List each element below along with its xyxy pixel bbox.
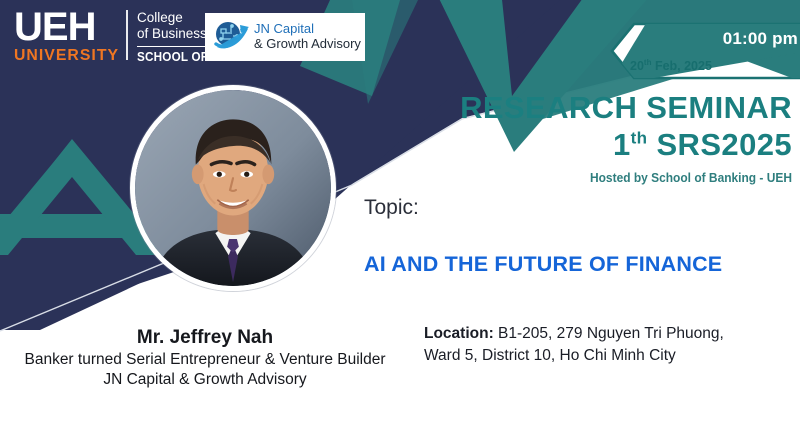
ueh-university-label: UNIVERSITY bbox=[14, 48, 119, 64]
location-line-1: B1-205, 279 Nguyen Tri Phuong, bbox=[494, 325, 724, 342]
date-day: 20 bbox=[630, 59, 644, 73]
seminar-poster: UEH UNIVERSITY College of Business SCHOO… bbox=[0, 0, 800, 433]
headline-block: RESEARCH SEMINAR 1th SRS2025 Hosted by S… bbox=[232, 92, 792, 185]
datetime-ribbon: 01:00 pm 20th Feb, 2025 bbox=[608, 20, 800, 84]
seminar-time: 01:00 pm bbox=[723, 29, 798, 49]
location-block: Location: B1-205, 279 Nguyen Tri Phuong,… bbox=[424, 323, 784, 367]
location-line-2: Ward 5, District 10, Ho Chi Minh City bbox=[424, 347, 676, 364]
topic-label: Topic: bbox=[364, 196, 419, 220]
hosted-by-label: Hosted by School of Banking - UEH bbox=[277, 170, 792, 185]
ueh-logo-mark-group: UEH UNIVERSITY bbox=[14, 8, 117, 64]
topic-title: AI AND THE FUTURE OF FINANCE bbox=[364, 252, 722, 277]
edition-number: 1 bbox=[613, 127, 631, 162]
jn-capital-line-2: & Growth Advisory bbox=[254, 37, 361, 52]
edition-name: SRS2025 bbox=[656, 127, 792, 162]
location-label-text: Location: bbox=[424, 325, 494, 342]
speaker-role: Banker turned Serial Entrepreneur & Vent… bbox=[0, 350, 410, 370]
jn-capital-circuit-arrow-icon bbox=[211, 20, 249, 54]
ueh-wordmark: UEH bbox=[14, 8, 95, 47]
ueh-logo-divider bbox=[126, 10, 128, 60]
jn-capital-line-1: JN Capital bbox=[254, 22, 361, 37]
speaker-name: Mr. Jeffrey Nah bbox=[0, 326, 410, 350]
jn-capital-logo-text: JN Capital & Growth Advisory bbox=[254, 22, 361, 51]
date-rest: Feb, 2025 bbox=[651, 59, 711, 73]
speaker-organization: JN Capital & Growth Advisory bbox=[0, 370, 410, 390]
speaker-info: Mr. Jeffrey Nah Banker turned Serial Ent… bbox=[0, 326, 410, 390]
edition-ordinal: th bbox=[631, 129, 648, 148]
jn-capital-logo: JN Capital & Growth Advisory bbox=[205, 13, 365, 61]
seminar-title: RESEARCH SEMINAR bbox=[232, 92, 792, 125]
location-label: Location: bbox=[424, 325, 494, 342]
seminar-edition: 1th SRS2025 bbox=[232, 127, 792, 164]
seminar-date: 20th Feb, 2025 bbox=[630, 58, 712, 73]
